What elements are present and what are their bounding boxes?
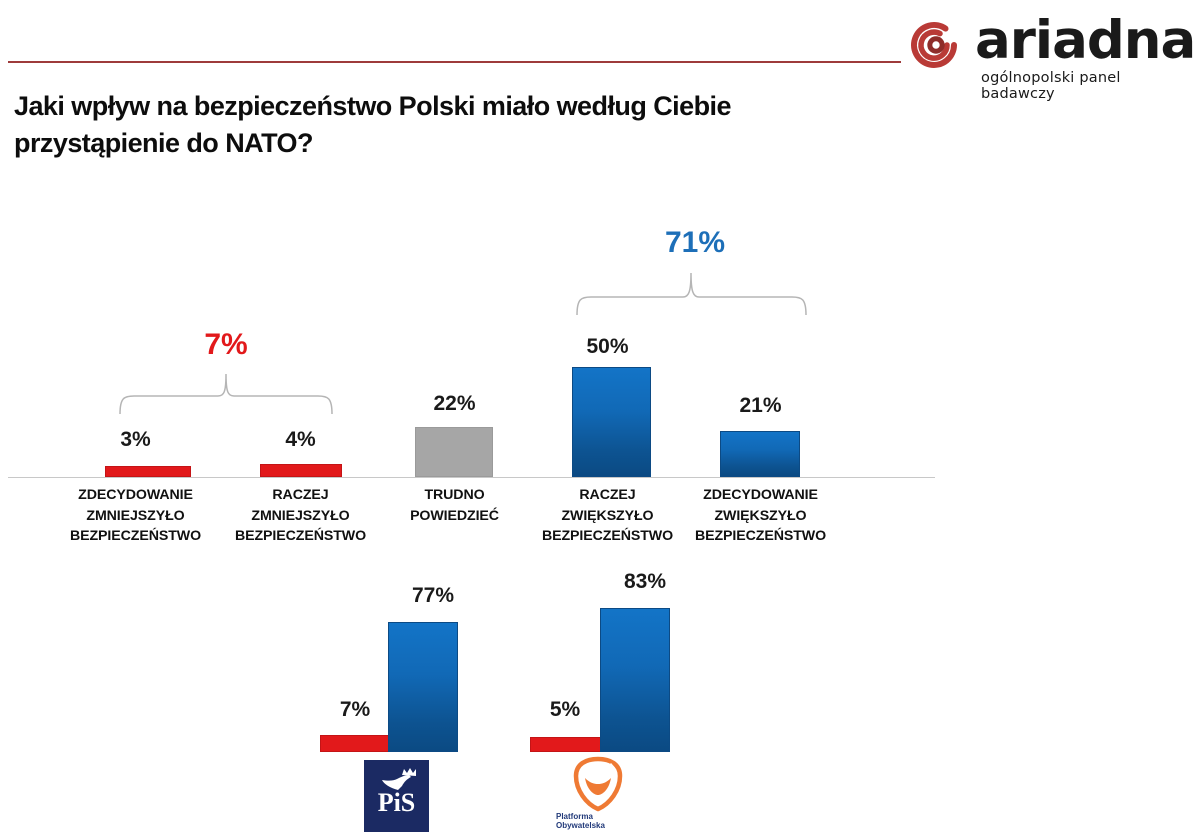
po-logo-line1: Platforma <box>556 812 646 821</box>
party-breakdown-chart: 7% 77% PiS 5% 83% <box>0 560 1199 839</box>
bar-5-decisively-increased <box>720 431 800 477</box>
category-label-3: TRUDNO POWIEDZIEĆ <box>382 485 527 526</box>
chart-baseline-axis <box>8 477 935 478</box>
po-bar-increased <box>600 608 670 752</box>
category-line: BEZPIECZEŃSTWO <box>228 526 373 547</box>
category-label-2: RACZEJ ZMNIEJSZYŁO BEZPIECZEŃSTWO <box>228 485 373 547</box>
po-blue-value: 83% <box>600 570 690 594</box>
po-smile-shield-icon <box>570 756 626 812</box>
category-line: ZDECYDOWANIE <box>63 485 208 506</box>
chart-column-3: 22% TRUDNO POWIEDZIEĆ <box>382 0 527 477</box>
bar-value-2: 4% <box>228 428 373 452</box>
category-line: ZMNIEJSZYŁO <box>228 506 373 527</box>
chart-column-1: 3% ZDECYDOWANIE ZMNIEJSZYŁO BEZPIECZEŃST… <box>63 0 208 477</box>
category-label-5: ZDECYDOWANIE ZWIĘKSZYŁO BEZPIECZEŃSTWO <box>688 485 833 547</box>
bar-1-decisively-decreased <box>105 466 191 477</box>
bar-value-3: 22% <box>382 392 527 416</box>
category-line: POWIEDZIEĆ <box>382 506 527 527</box>
po-logo-text: Platforma Obywatelska <box>556 812 646 830</box>
pis-logo: PiS <box>364 760 429 832</box>
slide-root: ariadna ogólnopolski panel badawczy Jaki… <box>0 0 1199 839</box>
category-label-4: RACZEJ ZWIĘKSZYŁO BEZPIECZEŃSTWO <box>535 485 680 547</box>
category-line: RACZEJ <box>535 485 680 506</box>
pis-bar-decreased <box>320 735 398 752</box>
chart-column-5: 21% ZDECYDOWANIE ZWIĘKSZYŁO BEZPIECZEŃST… <box>688 0 833 477</box>
bar-value-5: 21% <box>688 394 833 418</box>
category-line: ZMNIEJSZYŁO <box>63 506 208 527</box>
po-bar-decreased <box>530 737 610 752</box>
bar-value-4: 50% <box>535 335 680 359</box>
pis-logo-text: PiS <box>364 790 429 816</box>
bar-2-rather-decreased <box>260 464 342 477</box>
party-group-pis: 7% 77% PiS <box>310 560 470 839</box>
pis-blue-value: 77% <box>388 584 478 608</box>
chart-column-4: 50% RACZEJ ZWIĘKSZYŁO BEZPIECZEŃSTWO <box>535 0 680 477</box>
platforma-obywatelska-logo: Platforma Obywatelska <box>550 756 646 836</box>
po-red-value: 5% <box>530 698 600 722</box>
category-line: BEZPIECZEŃSTWO <box>535 526 680 547</box>
category-line: BEZPIECZEŃSTWO <box>63 526 208 547</box>
category-label-1: ZDECYDOWANIE ZMNIEJSZYŁO BEZPIECZEŃSTWO <box>63 485 208 547</box>
category-line: ZDECYDOWANIE <box>688 485 833 506</box>
pis-bar-increased <box>388 622 458 752</box>
main-bar-chart: 7% 71% 3% ZDECYDOWANIE ZMNIEJSZYŁO BEZPI… <box>0 0 1199 560</box>
bar-value-1: 3% <box>63 428 208 452</box>
bar-3-hard-to-say <box>415 427 493 477</box>
po-logo-line2: Obywatelska <box>556 821 646 830</box>
category-line: ZWIĘKSZYŁO <box>688 506 833 527</box>
category-line: ZWIĘKSZYŁO <box>535 506 680 527</box>
bar-4-rather-increased <box>572 367 651 477</box>
chart-column-2: 4% RACZEJ ZMNIEJSZYŁO BEZPIECZEŃSTWO <box>228 0 373 477</box>
pis-red-value: 7% <box>320 698 390 722</box>
party-group-po: 5% 83% Platforma Obywatelska <box>522 560 692 839</box>
category-line: BEZPIECZEŃSTWO <box>688 526 833 547</box>
category-line: RACZEJ <box>228 485 373 506</box>
category-line: TRUDNO <box>382 485 527 506</box>
